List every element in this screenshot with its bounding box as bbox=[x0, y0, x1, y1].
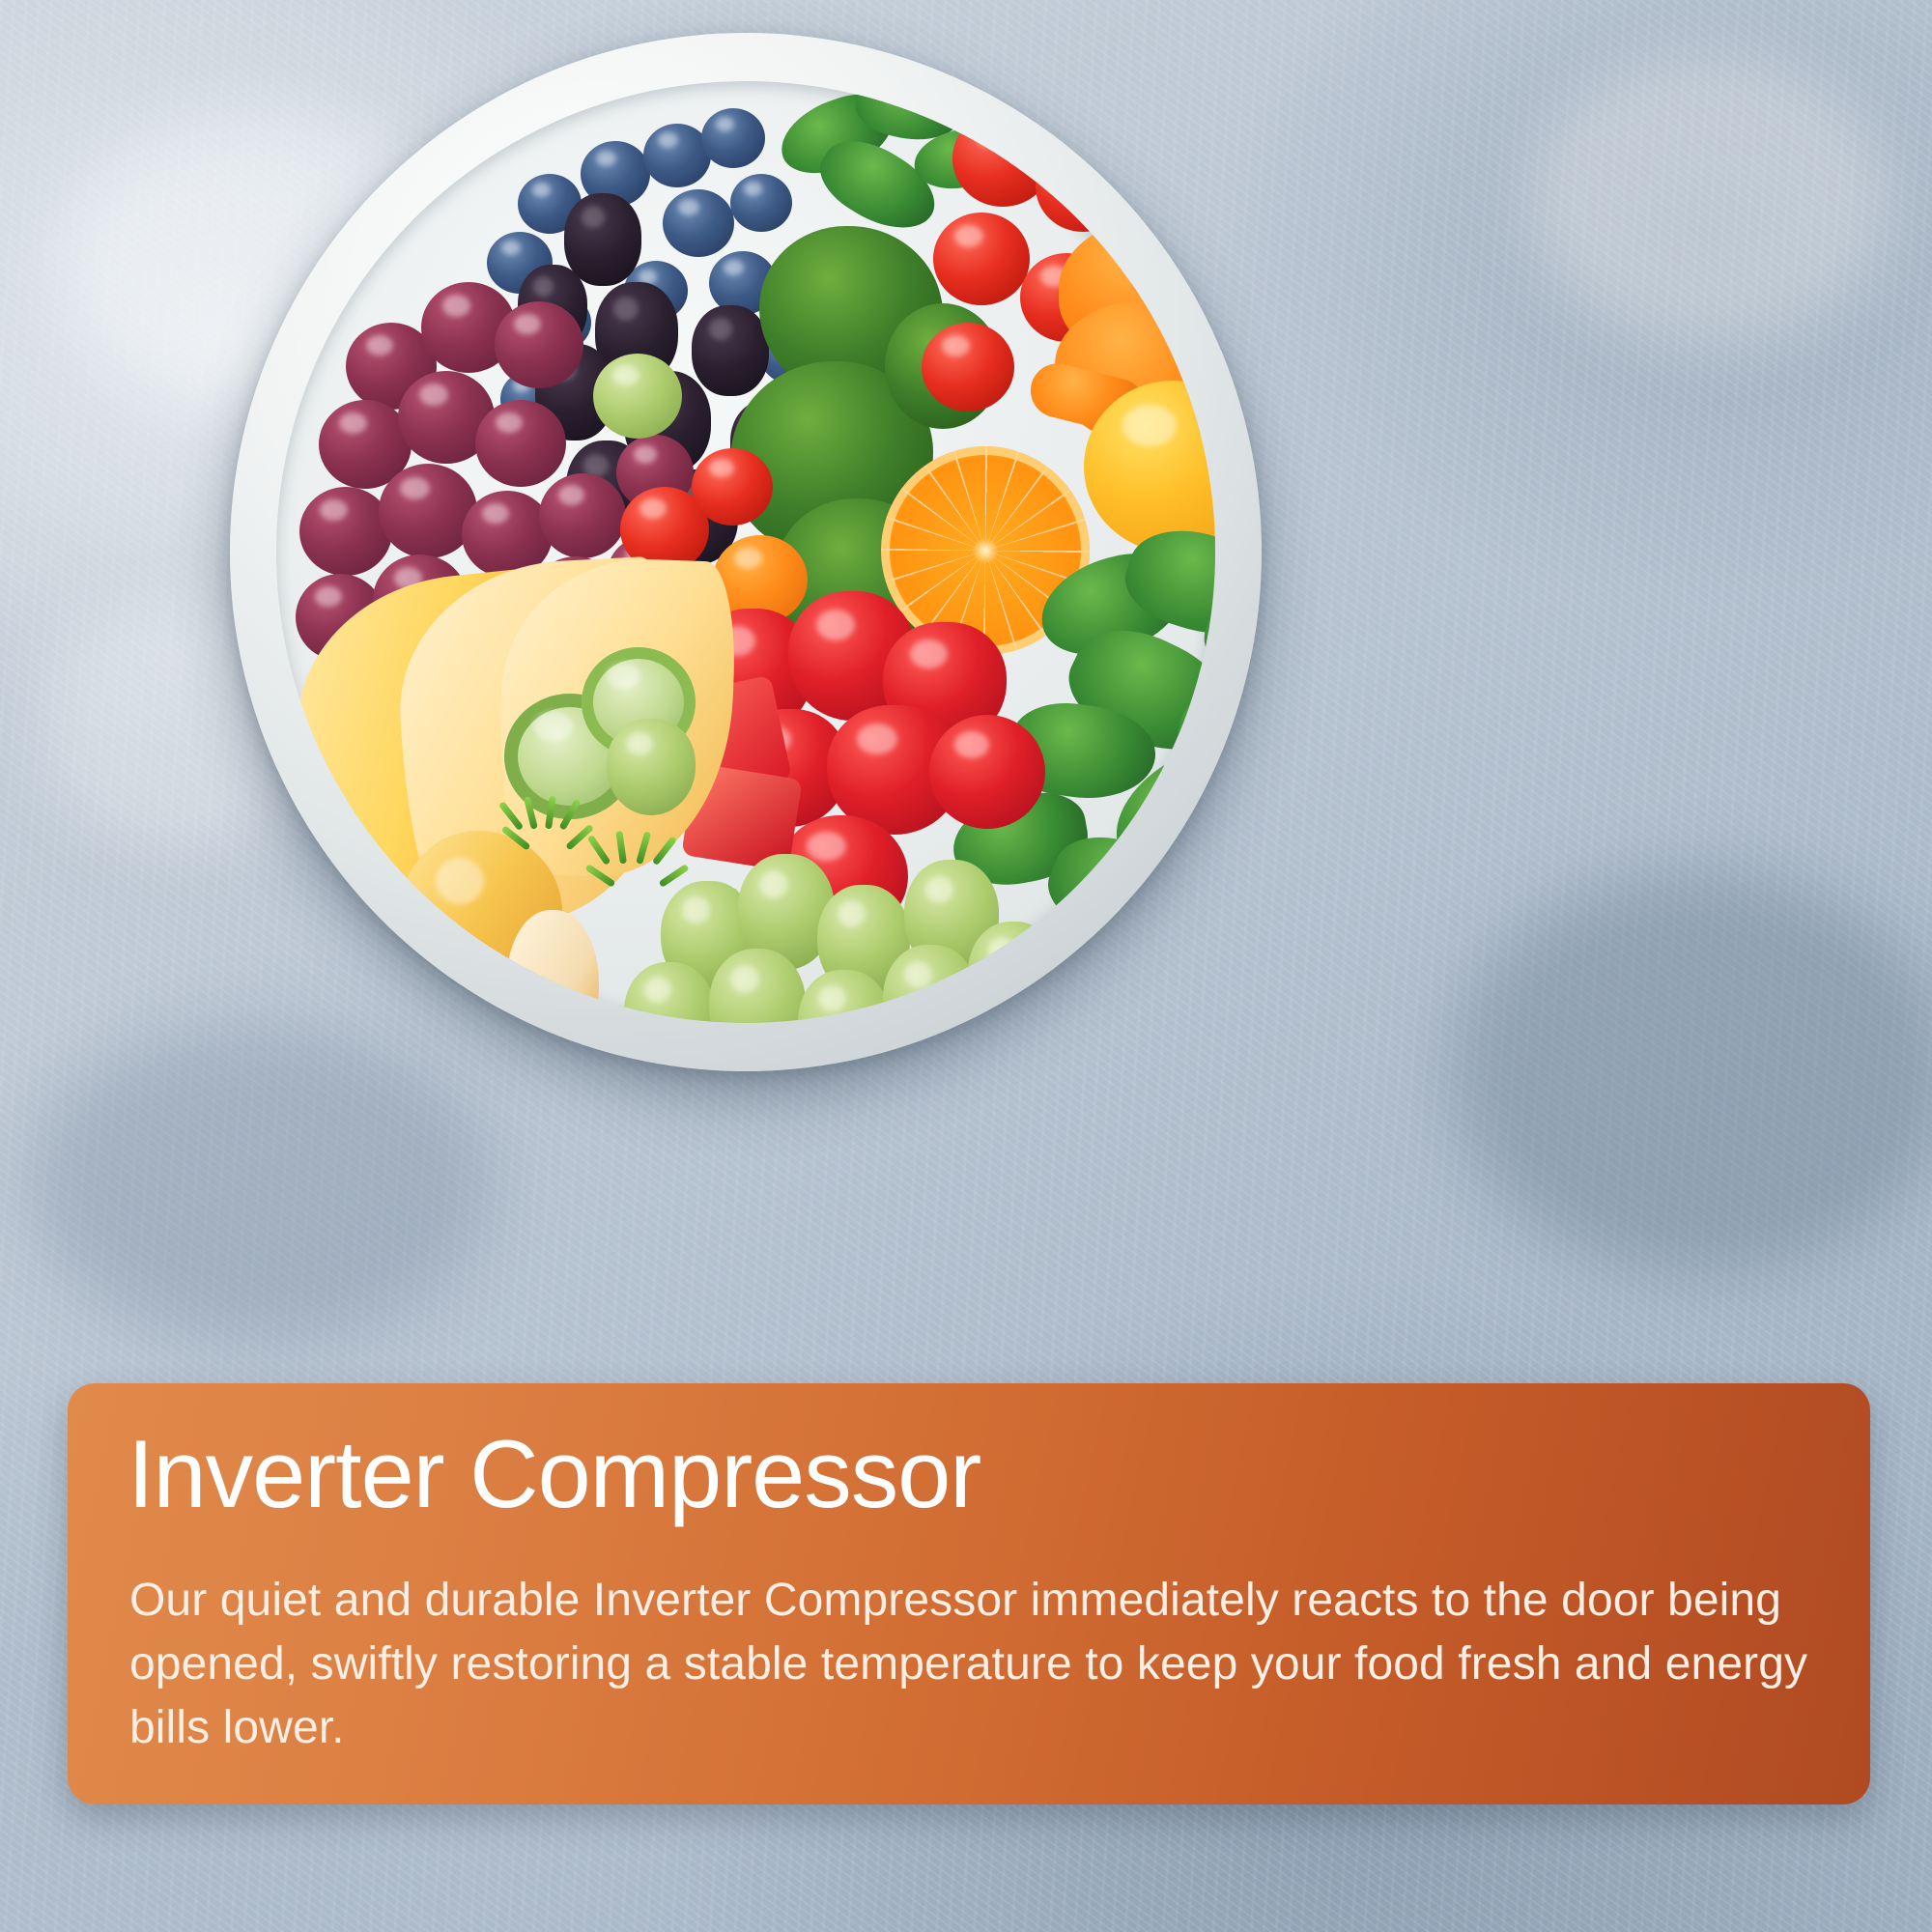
plate-well bbox=[276, 81, 1215, 1023]
feature-description: Our quiet and durable Inverter Compresso… bbox=[129, 1569, 1822, 1760]
page-title: Inverter Compressor bbox=[128, 1424, 980, 1525]
surface-shadow bbox=[1449, 869, 1932, 1275]
surface-shadow bbox=[29, 1024, 493, 1343]
surface-highlight bbox=[1526, 58, 1893, 348]
ceramic-plate bbox=[230, 33, 1262, 1071]
feature-banner: Inverter Compressor Our quiet and durabl… bbox=[68, 1383, 1870, 1804]
